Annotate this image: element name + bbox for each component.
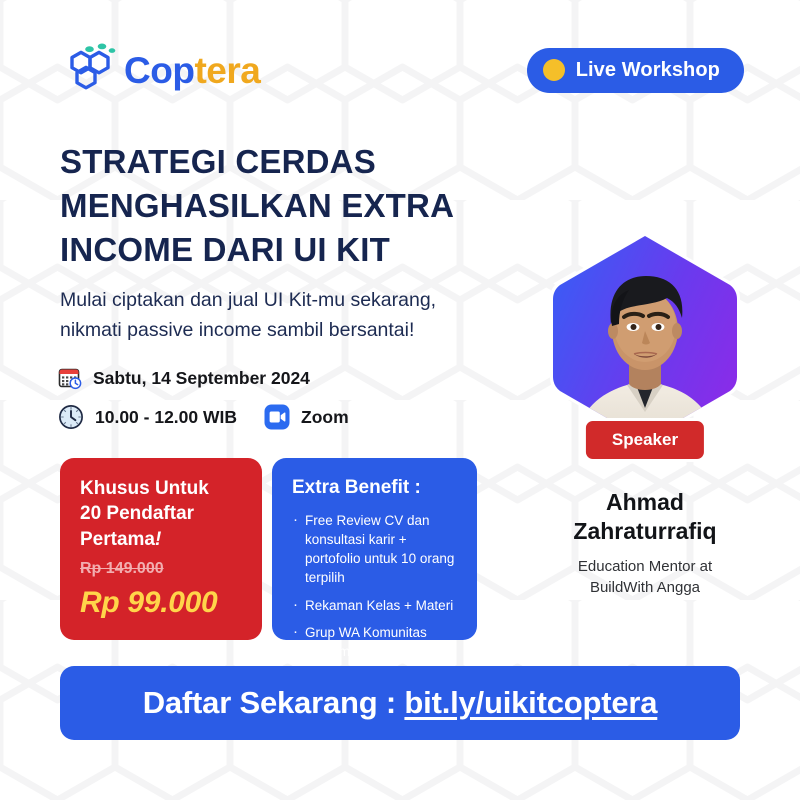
clock-icon <box>58 404 84 430</box>
hexagon-cluster-icon <box>60 43 116 97</box>
event-time: 10.00 - 12.00 WIB <box>58 404 237 430</box>
offer-title-line-2: 20 Pendaftar <box>80 503 194 524</box>
zoom-icon <box>264 404 290 430</box>
headline-line-1: STRATEGI CERDAS <box>60 140 530 184</box>
speaker-role: Education Mentor at BuildWith Angga <box>520 556 770 599</box>
benefit-card-title: Extra Benefit : <box>292 477 463 499</box>
event-date: Sabtu, 14 September 2024 <box>58 366 310 390</box>
live-workshop-badge[interactable]: Live Workshop <box>527 48 744 93</box>
register-cta-button[interactable]: Daftar Sekarang : bit.ly/uikitcoptera <box>60 666 740 740</box>
header: Coptera Live Workshop <box>60 42 744 98</box>
event-time-text: 10.00 - 12.00 WIB <box>95 407 237 428</box>
list-item: Grup WA Komunitas bersama profesional <box>292 623 463 661</box>
price-discounted: Rp 99.000 <box>80 586 217 620</box>
list-item: Free Review CV dan konsultasi karir + po… <box>292 511 463 588</box>
speaker-role-line-2: BuildWith Angga <box>520 577 770 598</box>
brand-wordmark: Coptera <box>124 52 260 89</box>
speaker-name-line-1: Ahmad <box>520 488 770 517</box>
offer-title-line-3: Pertama <box>80 529 155 550</box>
event-date-text: Sabtu, 14 September 2024 <box>93 368 310 389</box>
brand-logo[interactable]: Coptera <box>60 43 260 97</box>
offer-card: Khusus Untuk 20 Pendaftar Pertama! Rp 14… <box>60 458 262 640</box>
benefit-card: Extra Benefit : Free Review CV dan konsu… <box>272 458 477 640</box>
subtitle-line-1: Mulai ciptakan dan jual UI Kit-mu sekara… <box>60 285 500 315</box>
cta-label: Daftar Sekarang : <box>143 685 405 720</box>
offer-title-exclamation: ! <box>155 529 161 550</box>
list-item: Rekaman Kelas + Materi <box>292 596 463 615</box>
calendar-icon <box>58 366 82 390</box>
speaker-name: Ahmad Zahraturrafiq <box>520 488 770 545</box>
benefit-list: Free Review CV dan konsultasi karir + po… <box>292 511 463 661</box>
speaker-photo-frame: Speaker <box>549 232 741 444</box>
live-dot-icon <box>543 59 565 81</box>
headline-line-2: MENGHASILKAN EXTRA <box>60 184 530 228</box>
event-platform-text: Zoom <box>301 407 349 428</box>
poster-root: Coptera Live Workshop STRATEGI CERDAS ME… <box>0 0 800 800</box>
page-title: STRATEGI CERDAS MENGHASILKAN EXTRA INCOM… <box>60 140 530 272</box>
subtitle: Mulai ciptakan dan jual UI Kit-mu sekara… <box>60 285 500 345</box>
brand-name-part1: Cop <box>124 50 194 91</box>
brand-name-part2: tera <box>194 50 260 91</box>
offer-card-title: Khusus Untuk 20 Pendaftar Pertama! <box>80 476 244 552</box>
speaker-role-line-1: Education Mentor at <box>520 556 770 577</box>
speaker-name-line-2: Zahraturrafiq <box>520 517 770 546</box>
status-badge: Speaker <box>583 418 707 462</box>
subtitle-line-2: nikmati passive income sambil bersantai! <box>60 315 500 345</box>
price-original: Rp 149.000 <box>80 560 164 578</box>
headline-line-3: INCOME DARI UI KIT <box>60 228 530 272</box>
cta-link[interactable]: bit.ly/uikitcoptera <box>404 685 657 720</box>
cta-text: Daftar Sekarang : bit.ly/uikitcoptera <box>143 685 658 721</box>
speaker-section: Speaker Ahmad Zahraturrafiq Education Me… <box>520 232 770 599</box>
live-workshop-label: Live Workshop <box>576 59 720 82</box>
event-platform: Zoom <box>264 404 349 430</box>
offer-title-line-1: Khusus Untuk <box>80 478 209 499</box>
event-time-platform-row: 10.00 - 12.00 WIB Zoom <box>58 404 349 430</box>
avatar <box>549 232 741 444</box>
